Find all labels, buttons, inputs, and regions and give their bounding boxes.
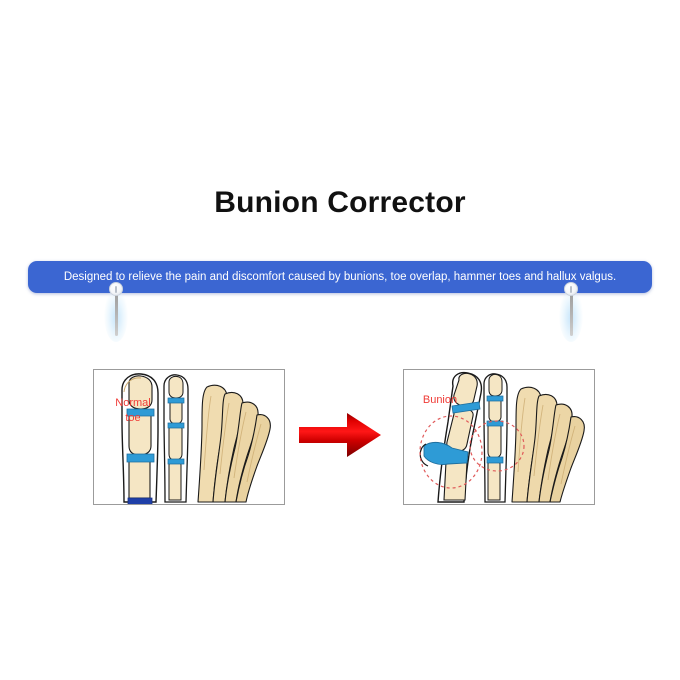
bunion-foot-xray-illustration (404, 370, 595, 505)
bunion-label: Bunion (412, 393, 468, 408)
bunion-panel: Bunion (403, 369, 595, 505)
right-arrow-icon (297, 410, 383, 460)
transition-arrow (297, 410, 383, 460)
pin-head-icon (564, 282, 578, 296)
normal-toe-label: Normal toe (105, 396, 161, 426)
pin-marker-right (559, 282, 583, 344)
page-title: Bunion Corrector (0, 186, 680, 220)
normal-foot-xray-illustration (94, 370, 285, 505)
pin-marker-left (104, 282, 128, 344)
normal-toe-label-line1: Normal (105, 396, 161, 411)
normal-toe-label-line2: toe (105, 411, 161, 426)
normal-toe-panel: Normal toe (93, 369, 285, 505)
pin-head-icon (109, 282, 123, 296)
bunion-label-line1: Bunion (412, 393, 468, 408)
